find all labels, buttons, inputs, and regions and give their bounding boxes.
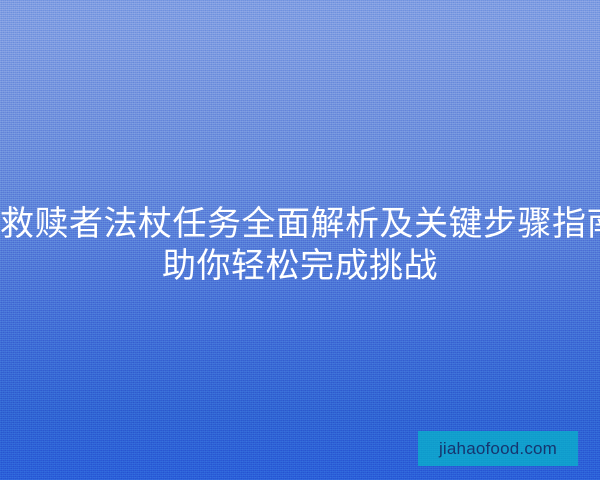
headline-line-2: 助你轻松完成挑战 [0, 245, 600, 287]
headline-line-1: 救赎者法杖任务全面解析及关键步骤指南 [0, 203, 600, 245]
watermark-url-label: jiahaofood.com [439, 440, 557, 457]
headline-text-block: 救赎者法杖任务全面解析及关键步骤指南 助你轻松完成挑战 [0, 203, 600, 287]
watermark-badge: jiahaofood.com [418, 431, 578, 466]
image-banner: 救赎者法杖任务全面解析及关键步骤指南 助你轻松完成挑战 jiahaofood.c… [0, 0, 600, 480]
